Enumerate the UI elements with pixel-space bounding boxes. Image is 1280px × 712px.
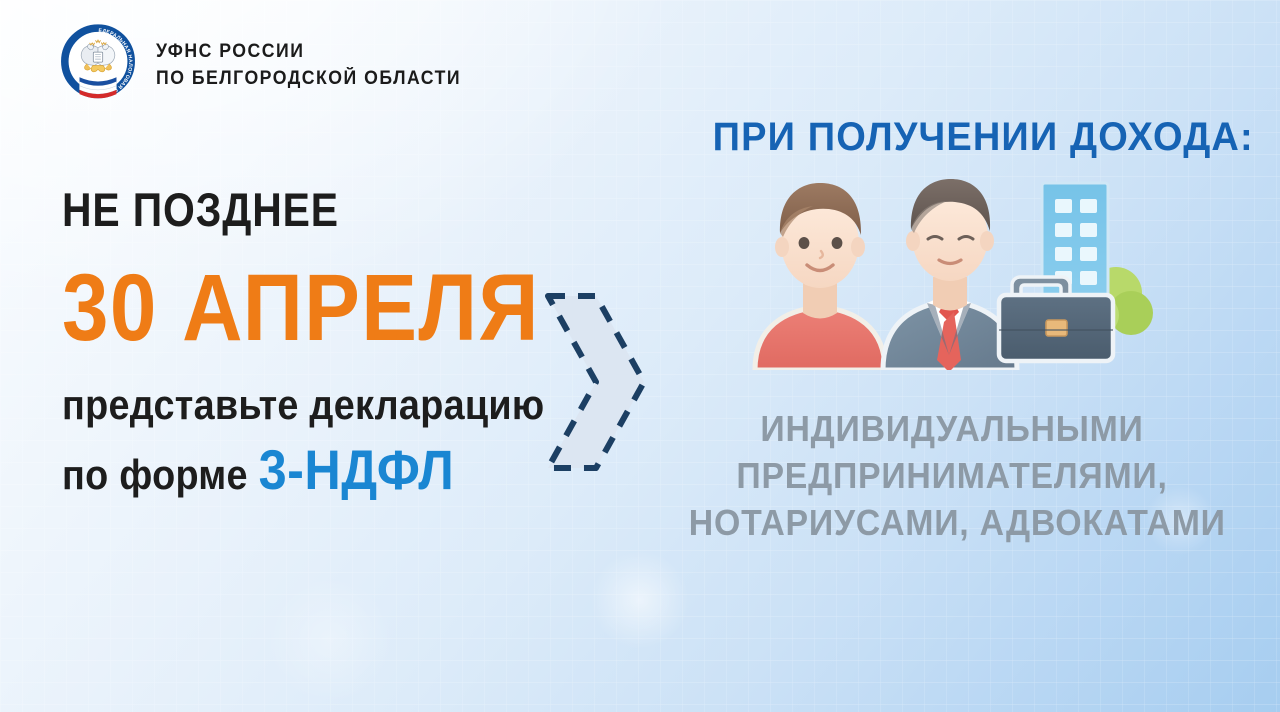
brand-header: ФЕДЕРАЛЬНАЯ НАЛОГОВАЯ СЛУЖБА: [56, 21, 484, 105]
entrepreneur-and-professional-illustration: [735, 155, 1155, 370]
action-text: представьте декларацию: [62, 384, 530, 426]
brand-line-1: УФНС РОССИИ: [156, 41, 461, 63]
form-code-text: 3-НДФЛ: [259, 442, 455, 498]
brand-text-block: УФНС РОССИИ ПО БЕЛГОРОДСКОЙ ОБЛАСТИ: [156, 37, 484, 90]
caption-line-2: ПРЕДПРИНИМАТЕЛЯМИ,: [689, 453, 1215, 500]
deadline-message-block: НЕ ПОЗДНЕЕ 30 АПРЕЛЯ представьте деклара…: [62, 186, 582, 498]
deadline-prefix-text: НЕ ПОЗДНЕЕ: [62, 186, 514, 233]
income-heading: ПРИ ПОЛУЧЕНИИ ДОХОДА:: [713, 117, 1194, 157]
income-recipients-caption: ИНДИВИДУАЛЬНЫМИ ПРЕДПРИНИМАТЕЛЯМИ, НОТАР…: [689, 406, 1215, 546]
chevron-right-arrow-icon: [540, 288, 652, 476]
form-prefix-text: по форме: [62, 454, 248, 496]
poster-canvas: ФЕДЕРАЛЬНАЯ НАЛОГОВАЯ СЛУЖБА: [0, 0, 1280, 712]
caption-line-1: ИНДИВИДУАЛЬНЫМИ: [689, 406, 1215, 453]
brand-line-2: ПО БЕЛГОРОДСКОЙ ОБЛАСТИ: [156, 68, 461, 90]
form-line: по форме 3-НДФЛ: [62, 442, 530, 498]
federal-tax-service-emblem-icon: ФЕДЕРАЛЬНАЯ НАЛОГОВАЯ СЛУЖБА: [56, 21, 140, 105]
person-casual-figure: [755, 183, 885, 370]
deadline-date-text: 30 АПРЕЛЯ: [62, 263, 520, 354]
caption-line-3: НОТАРИУСАМИ, АДВОКАТАМИ: [689, 500, 1215, 547]
